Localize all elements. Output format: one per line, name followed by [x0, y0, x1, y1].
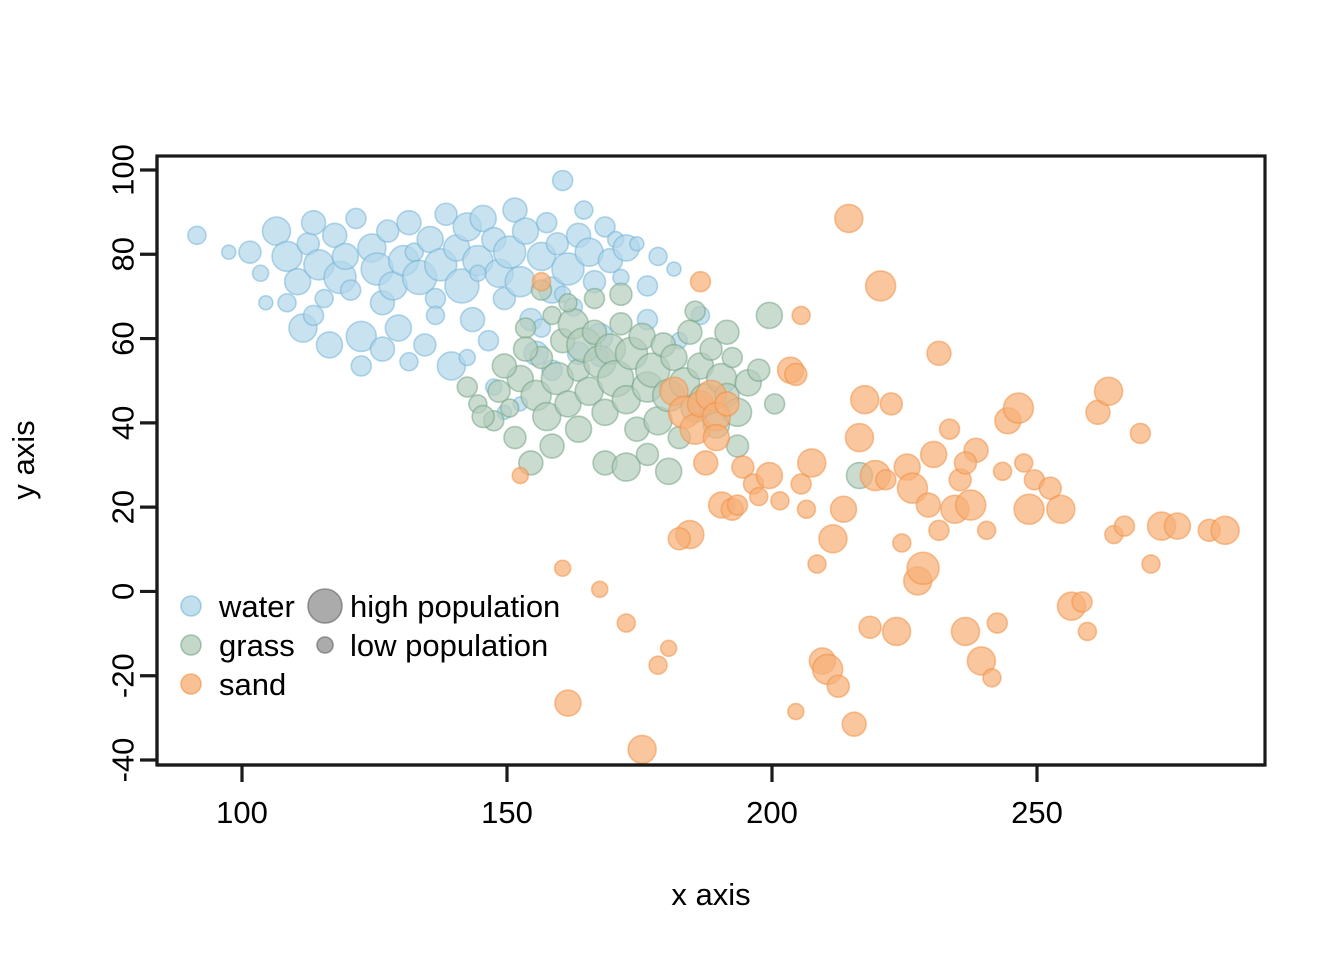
data-point — [397, 211, 421, 235]
data-point — [956, 490, 986, 520]
data-point — [532, 273, 550, 291]
data-point — [940, 419, 960, 439]
data-point — [592, 581, 608, 597]
data-point — [426, 306, 444, 324]
y-tick-label: 80 — [106, 237, 141, 271]
data-point — [553, 171, 573, 191]
data-point — [1003, 393, 1033, 423]
data-point — [1072, 592, 1092, 612]
data-point — [649, 656, 667, 674]
data-point — [304, 305, 324, 325]
data-point — [505, 267, 535, 297]
data-point — [425, 289, 445, 309]
data-point — [332, 243, 358, 269]
data-point — [703, 425, 729, 451]
data-point — [785, 363, 807, 385]
y-tick-label: 60 — [106, 321, 141, 355]
x-tick-label: 200 — [746, 795, 798, 830]
data-point — [835, 204, 863, 232]
data-point — [377, 220, 399, 242]
data-point — [315, 290, 333, 308]
data-point — [1078, 622, 1096, 640]
y-tick-label: -40 — [106, 738, 141, 783]
data-point — [559, 294, 577, 312]
data-point — [788, 704, 804, 720]
data-point — [1114, 516, 1134, 536]
data-point — [414, 334, 436, 356]
data-point — [457, 377, 477, 397]
data-point — [765, 394, 785, 414]
data-point — [921, 441, 947, 467]
data-point — [537, 213, 557, 233]
data-point — [851, 386, 879, 414]
legend-label-grass: grass — [219, 628, 295, 663]
data-point — [694, 451, 718, 475]
data-point — [351, 356, 371, 376]
y-axis-title: y axis — [6, 420, 41, 499]
data-point — [341, 280, 361, 300]
data-point — [222, 245, 236, 259]
data-point — [661, 345, 687, 371]
data-point — [637, 276, 657, 296]
data-point — [514, 337, 538, 361]
legend-swatch-water[interactable] — [181, 596, 201, 616]
data-point — [513, 218, 539, 244]
data-point — [668, 528, 690, 550]
data-point — [728, 495, 748, 515]
data-point — [808, 555, 826, 573]
data-point — [750, 488, 768, 506]
data-point — [667, 262, 681, 276]
legend-size-label-low: low population — [350, 628, 548, 663]
data-point — [385, 315, 411, 341]
data-point — [1014, 494, 1044, 524]
data-point — [661, 640, 677, 656]
legend-size-label-high: high population — [350, 589, 560, 624]
data-point — [555, 690, 581, 716]
data-point — [516, 318, 536, 338]
data-point — [302, 211, 326, 235]
data-point — [259, 296, 273, 310]
data-point — [798, 449, 826, 477]
data-point — [866, 271, 896, 301]
x-axis-title: x axis — [671, 877, 750, 912]
data-point — [239, 241, 261, 263]
data-point — [819, 525, 847, 553]
y-tick-label: 100 — [106, 144, 141, 196]
legend-label-sand: sand — [219, 667, 286, 702]
x-tick-label: 100 — [216, 795, 268, 830]
y-tick-label: -20 — [106, 653, 141, 698]
data-point — [929, 520, 949, 540]
data-point — [951, 617, 979, 645]
data-point — [883, 617, 911, 645]
data-point — [540, 434, 564, 458]
legend-size-swatch-high[interactable] — [308, 589, 342, 623]
data-point — [610, 313, 632, 335]
data-point — [893, 534, 911, 552]
data-point — [555, 560, 571, 576]
data-point — [1164, 513, 1190, 539]
data-point — [715, 392, 739, 416]
legend-swatch-grass[interactable] — [181, 635, 201, 655]
data-point — [566, 416, 592, 442]
data-point — [461, 308, 485, 332]
data-point — [253, 265, 269, 281]
legend-swatch-sand[interactable] — [181, 674, 201, 694]
bubble-scatter-chart: 100150200250 -40-20020406080100 x axis y… — [0, 0, 1344, 960]
data-point — [584, 289, 604, 309]
legend-label-water: water — [218, 589, 295, 624]
data-point — [1047, 495, 1075, 523]
data-point — [907, 552, 939, 584]
data-point — [792, 306, 810, 324]
data-point — [771, 492, 789, 510]
data-point — [756, 302, 782, 328]
data-point — [983, 669, 1001, 687]
data-point — [690, 272, 710, 292]
data-point — [1130, 423, 1150, 443]
x-tick-label: 150 — [481, 795, 533, 830]
data-point — [954, 452, 976, 474]
x-tick-label: 250 — [1011, 795, 1063, 830]
data-point — [978, 521, 996, 539]
data-point — [346, 208, 366, 228]
data-point — [715, 320, 739, 344]
data-point — [459, 350, 475, 366]
data-point — [831, 496, 857, 522]
y-tick-label: 0 — [106, 583, 141, 600]
data-point — [370, 337, 394, 361]
data-point — [916, 493, 940, 517]
data-point — [649, 247, 667, 265]
data-point — [880, 393, 902, 415]
data-point — [472, 406, 494, 428]
data-point — [994, 462, 1012, 480]
data-point — [1015, 454, 1033, 472]
data-point — [685, 301, 705, 321]
data-point — [1211, 516, 1239, 544]
data-point — [927, 341, 951, 365]
data-point — [876, 470, 896, 490]
data-point — [636, 443, 658, 465]
data-point — [1142, 555, 1160, 573]
data-point — [188, 226, 206, 244]
data-point — [845, 424, 873, 452]
data-point — [478, 331, 498, 351]
data-point — [546, 233, 568, 255]
data-point — [859, 616, 881, 638]
data-point — [512, 468, 528, 484]
data-point — [827, 675, 849, 697]
chart-canvas: 100150200250 -40-20020406080100 x axis y… — [0, 0, 1344, 960]
data-point — [504, 427, 526, 449]
data-point — [316, 332, 342, 358]
data-point — [470, 265, 486, 281]
data-point — [1095, 377, 1123, 405]
data-point — [987, 613, 1007, 633]
y-tick-label: 40 — [106, 406, 141, 440]
data-point — [722, 348, 742, 368]
data-point — [400, 353, 418, 371]
data-point — [628, 735, 656, 763]
data-point — [575, 201, 593, 219]
data-point — [678, 320, 702, 344]
data-point — [797, 500, 815, 518]
data-point — [492, 354, 516, 378]
data-point — [748, 359, 770, 381]
y-tick-label: 20 — [106, 490, 141, 524]
data-point — [656, 458, 682, 484]
data-point — [630, 237, 644, 251]
data-point — [842, 712, 866, 736]
data-point — [756, 463, 782, 489]
legend-size-swatch-low[interactable] — [317, 637, 333, 653]
data-point — [610, 283, 632, 305]
data-point — [501, 399, 519, 417]
data-point — [278, 294, 296, 312]
data-point — [617, 614, 635, 632]
